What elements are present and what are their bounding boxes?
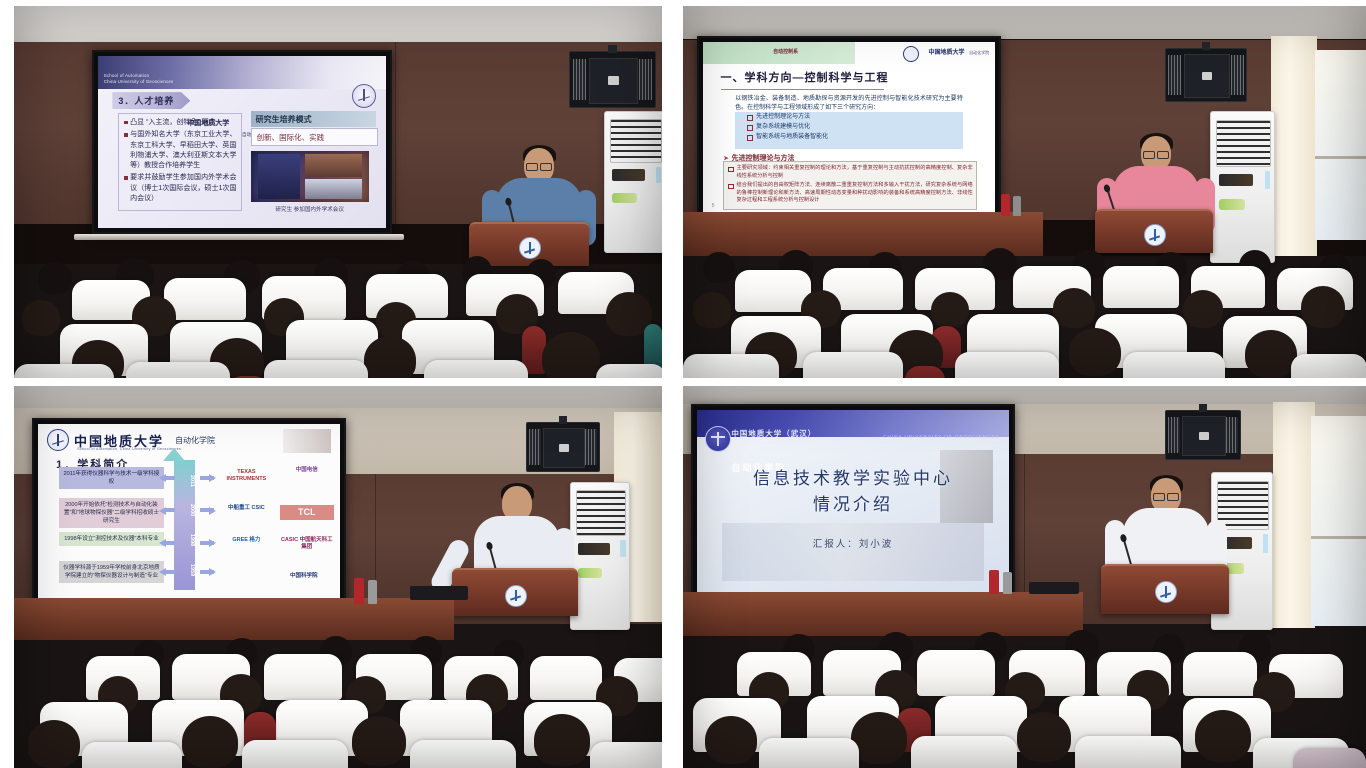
seat <box>759 738 859 768</box>
speaker-side-right <box>1231 55 1244 95</box>
slide-title-page: 中国地质大学（武汉） 自动化学院 CHINA UNIVERSITY OF GEO… <box>697 410 1009 592</box>
slide-page-number: 5 <box>712 203 715 209</box>
bottle <box>354 578 364 604</box>
list-item: 复杂系统建模与优化 <box>745 123 963 132</box>
ac-badge <box>656 167 661 184</box>
window-frame-bar <box>1315 156 1366 159</box>
slide-title: 3．人才培养 <box>112 92 190 109</box>
slide-title-line2: 情况介绍 <box>697 492 1009 518</box>
glasses-icon <box>1143 151 1169 158</box>
ac-display <box>578 543 610 555</box>
speaker-side-left <box>529 429 541 465</box>
partner-logo: TEXAS INSTRUMENTS <box>222 469 270 482</box>
speaker-bracket-icon <box>1202 42 1210 50</box>
ac-grill-icon <box>1216 120 1271 167</box>
podium-emblem-icon <box>1144 224 1166 246</box>
list-item: 智能系统与地质装备智能化 <box>745 133 963 142</box>
ac-decal-icon <box>612 193 637 203</box>
slide-banner-label: 自动控制系 <box>773 48 798 55</box>
audience-head <box>1069 328 1121 376</box>
list-item: 与国外知名大学（东京工业大学、东京工科大学、早稻田大学、英国利物浦大学、澳大利亚… <box>124 130 236 171</box>
thermos <box>1003 572 1012 594</box>
audience-row-2 <box>683 672 1366 720</box>
arrow-right-icon <box>200 507 217 513</box>
slide-photo-2 <box>305 154 362 178</box>
slide-header-university: 中国地质大学 自动化学院 <box>928 47 989 56</box>
partner-logo: 中国电信 <box>283 467 331 474</box>
ac-display <box>1219 174 1254 186</box>
slide-discipline-intro: 中国地质大学 自动化学院 School of Automation, China… <box>38 424 340 604</box>
ac-badge <box>620 540 625 558</box>
air-conditioner-tr <box>1210 111 1275 263</box>
slide-photo-collage <box>251 151 369 203</box>
screen-surface-bl: 中国地质大学 自动化学院 School of Automation, China… <box>38 424 340 604</box>
audience-head <box>1245 330 1297 378</box>
audience-row-3 <box>683 338 1366 378</box>
photo-top-right[interactable]: 自动控制系 中国地质大学 自动化学院 一、学科方向—控制科学与工程 以钢铁冶金、… <box>683 6 1366 378</box>
ac-badge <box>1265 171 1271 189</box>
audience-head <box>542 332 600 378</box>
slide-photo-1 <box>258 154 301 199</box>
milestone-box: 2011年获得仪器科学与技术一级学科授权 <box>59 467 164 489</box>
list-item: 凸显 “入主流，创特色” 理念 <box>124 118 236 128</box>
bottle <box>1001 194 1010 216</box>
list-item: 主要研究领域：约束相关重复控制的理论和方法，基于重复控制与主动抗扰控制的高精度控… <box>727 165 972 180</box>
projection-screen-tr[interactable]: 自动控制系 中国地质大学 自动化学院 一、学科方向—控制科学与工程 以钢铁冶金、… <box>697 36 1001 218</box>
seat <box>264 360 368 378</box>
audience-head <box>1053 288 1095 328</box>
audience-row-1 <box>14 634 662 676</box>
list-item: 先进控制理论与方法 <box>745 113 963 122</box>
ceiling-br <box>683 386 1366 405</box>
audience-row-3 <box>683 720 1366 768</box>
bottle <box>989 570 999 594</box>
wall-speaker-br <box>1165 410 1241 460</box>
audience-head <box>352 716 406 766</box>
audience-row-3 <box>14 346 662 378</box>
lecture-room-tr: 自动控制系 中国地质大学 自动化学院 一、学科方向—控制科学与工程 以钢铁冶金、… <box>683 6 1366 378</box>
milestone-box: 2000年开始依托“检测技术与自动化装置”和“地球物探仪器”二级学科招收硕士研究… <box>59 498 164 528</box>
speaker-cone-icon <box>543 428 585 468</box>
speaker-bracket-icon <box>559 416 566 424</box>
wall-speaker-tl <box>569 51 656 108</box>
slide-header-school-text: 自动化学院 <box>969 50 989 55</box>
seat <box>1123 352 1225 378</box>
seat <box>911 736 1017 768</box>
seat <box>410 740 516 768</box>
air-conditioner-tl <box>604 111 662 253</box>
arrow-left-icon <box>159 568 173 574</box>
slide-title: 一、学科方向—控制科学与工程 <box>721 69 889 85</box>
podium-emblem-icon <box>505 585 527 607</box>
lecture-room-tl: School of Automation China University of… <box>14 6 662 378</box>
audience-head <box>534 714 590 766</box>
seat <box>596 364 662 378</box>
milestone-box: 1998年设立“测控技术及仪器”本科专业 <box>59 532 164 546</box>
audience-head <box>182 716 238 768</box>
audience-head <box>1195 710 1251 762</box>
curtain-tr <box>1271 36 1317 256</box>
screen-roller-bar <box>74 234 404 240</box>
seat <box>14 364 114 378</box>
audience-row-1 <box>683 630 1366 672</box>
timeline-year: 1959 <box>174 557 195 583</box>
speaker-side-left <box>1168 417 1180 453</box>
audience-head <box>703 252 735 283</box>
screen-surface-tr: 自动控制系 中国地质大学 自动化学院 一、学科方向—控制科学与工程 以钢铁冶金、… <box>703 42 995 212</box>
university-emblem-icon <box>705 426 731 452</box>
audience-head <box>364 336 416 378</box>
slide-header-en-line2: China University of Geosciences <box>104 79 174 85</box>
slide-photo-caption: 研究生 参加国内外学术会议 <box>251 205 369 213</box>
seat <box>424 360 528 378</box>
air-conditioner-bl <box>570 482 630 630</box>
seat <box>683 354 779 378</box>
slide-talent-cultivation: School of Automation China University of… <box>98 56 386 228</box>
timeline-year: 2000 <box>174 498 195 524</box>
timeline-arrow-icon: 2011 2000 1998 1959 <box>174 460 195 590</box>
podium-bl <box>452 568 578 616</box>
ac-decal-icon <box>1219 199 1245 210</box>
photo-bottom-right[interactable]: 中国地质大学（武汉） 自动化学院 CHINA UNIVERSITY OF GEO… <box>683 386 1366 768</box>
slide-photo-3 <box>305 179 362 199</box>
seat <box>803 352 903 378</box>
slide-background-photo <box>722 523 984 581</box>
seat <box>242 740 348 768</box>
lecture-room-bl: 中国地质大学 自动化学院 School of Automation, China… <box>14 386 662 768</box>
slide-presenter-label: 汇报人：刘小波 <box>697 536 1009 550</box>
ceiling-tr <box>683 6 1366 39</box>
slide-header-university-text: 中国地质大学 <box>928 50 964 56</box>
ac-grill-icon <box>610 119 662 163</box>
ceiling-bl <box>14 386 662 409</box>
podium-tr <box>1095 209 1213 253</box>
audience-head <box>693 292 731 328</box>
photo-bottom-left[interactable]: 中国地质大学 自动化学院 School of Automation, China… <box>14 386 662 768</box>
university-emblem-icon <box>352 84 376 108</box>
speaker-side-left <box>573 59 587 101</box>
window-frame-bar <box>1311 536 1366 539</box>
projection-screen-bl[interactable]: 中国地质大学 自动化学院 School of Automation, China… <box>32 418 346 610</box>
slide-header-en: School of Automation China University of… <box>104 73 174 84</box>
audience-row-1 <box>683 250 1366 290</box>
calligraphy-decoration <box>283 429 331 452</box>
audience-head <box>705 716 757 764</box>
slide-header-school: 自动化学院 <box>175 435 215 446</box>
milestone-box: 仪器学科源于1959年学校前身北京地质学院建立的“物探仪器设计与制造”专业 <box>59 561 164 583</box>
ac-grill-icon <box>1217 481 1269 530</box>
speaker-side-right <box>585 429 597 465</box>
photo-top-left[interactable]: School of Automation China University of… <box>14 6 662 378</box>
audience-head <box>1183 290 1223 328</box>
seat <box>1291 354 1366 378</box>
speaker-cone-icon <box>1184 54 1231 98</box>
podium-br <box>1101 564 1229 614</box>
slide-sidebox-body: 创新、国际化、实践 <box>251 128 378 146</box>
audience-head <box>931 292 969 328</box>
audience-head <box>1017 712 1071 762</box>
arrow-left-icon <box>159 474 173 480</box>
speaker-bracket-icon <box>608 45 617 53</box>
arrow-left-icon <box>159 539 173 545</box>
slide-directions-box: 先进控制理论与方法 复杂系统建模与优化 智能系统与地质装备智能化 <box>735 112 963 149</box>
wall-speaker-tr <box>1165 48 1247 102</box>
slide-discipline-direction: 自动控制系 中国地质大学 自动化学院 一、学科方向—控制科学与工程 以钢铁冶金、… <box>703 42 995 212</box>
curtain-br <box>1273 402 1315 628</box>
audience-row-3 <box>14 724 662 768</box>
slide-title-underline <box>721 89 885 91</box>
bottle <box>1013 196 1021 216</box>
podium-emblem-icon <box>519 237 541 259</box>
partner-logo: 中国科学院 <box>274 573 334 580</box>
slide-bullet-list: 凸显 “入主流，创特色” 理念 与国外知名大学（东京工业大学、东京工科大学、早稻… <box>118 113 242 212</box>
photo-collage: School of Automation China University of… <box>0 0 1366 768</box>
timeline-year: 2011 <box>174 468 195 494</box>
university-emblem-icon <box>47 429 69 451</box>
arrow-right-icon <box>200 474 217 480</box>
slide-header-en: CHINA UNIVERSITY OF GEOSCIENCES <box>883 434 999 439</box>
audience-head <box>38 262 72 294</box>
speaker-side-right <box>1226 417 1238 453</box>
audience-row-1 <box>14 258 662 298</box>
wall-speaker-bl <box>526 422 600 472</box>
slide-sidebox-title: 研究生培养模式 <box>251 111 376 127</box>
arrow-left-icon <box>159 507 173 513</box>
audience-head <box>28 720 80 768</box>
window-tr <box>1315 50 1366 240</box>
slide-subsection-box: 主要研究领域：约束相关重复控制的理论和方法，基于重复控制与主动抗扰控制的高精度控… <box>723 161 976 210</box>
speaker-side-left <box>1168 55 1181 95</box>
seat <box>1075 736 1181 768</box>
projection-screen-tl[interactable]: School of Automation China University of… <box>92 50 392 234</box>
list-item: 结合我们提出的自由权矩阵方法、连续离散二重重复控制方法和多输入干扰方法，研究复杂… <box>727 182 972 205</box>
arrow-right-icon <box>200 539 217 545</box>
ac-display <box>612 169 645 180</box>
projection-screen-br[interactable]: 中国地质大学（武汉） 自动化学院 CHINA UNIVERSITY OF GEO… <box>691 404 1015 598</box>
seat <box>126 362 230 378</box>
partner-logo: TCL <box>280 505 334 520</box>
ac-grill-icon <box>576 490 627 536</box>
seat <box>590 742 662 768</box>
seat <box>955 352 1059 378</box>
slide-paragraph: 以钢铁冶金、装备制造、地质勘探与资源开发的先进控制与智能化技术研究为主要特色。在… <box>735 95 963 113</box>
list-item: 要求并鼓励学生参加国内外学术会议（博士1次国际会议，硕士1次国内会议） <box>124 173 236 203</box>
window-br <box>1311 416 1366 626</box>
ac-badge <box>1263 534 1268 553</box>
audience-head <box>1301 286 1345 328</box>
lecture-room-br: 中国地质大学（武汉） 自动化学院 CHINA UNIVERSITY OF GEO… <box>683 386 1366 768</box>
thermos <box>368 580 377 604</box>
speaker-side-right <box>639 59 653 101</box>
speaker-cone-icon <box>1182 416 1225 456</box>
speaker-cone-icon <box>589 58 639 104</box>
glasses-icon <box>526 163 552 170</box>
slide-title: 信息技术教学实验中心 情况介绍 <box>697 466 1009 517</box>
seat <box>905 366 945 378</box>
timeline-year: 1998 <box>174 527 195 553</box>
glasses-icon <box>1153 493 1179 500</box>
podium-emblem-icon <box>1155 581 1177 603</box>
laptop <box>1029 582 1079 594</box>
university-emblem-icon <box>903 46 919 62</box>
slide-title-line1: 信息技术教学实验中心 <box>697 466 1009 492</box>
screen-surface-br: 中国地质大学（武汉） 自动化学院 CHINA UNIVERSITY OF GEO… <box>697 410 1009 592</box>
seat <box>82 742 182 768</box>
audience-head <box>851 712 907 764</box>
partner-logo: 中船重工 CSIC <box>222 505 270 512</box>
partner-logo: CASIC 中国航天科工集团 <box>280 537 334 550</box>
speaker-bracket-icon <box>1199 404 1206 412</box>
laptop <box>410 586 468 600</box>
partner-logo: GREE 格力 <box>222 537 270 544</box>
seat <box>1293 748 1366 768</box>
arrow-right-icon <box>200 568 217 574</box>
screen-surface-tl: School of Automation China University of… <box>98 56 386 228</box>
audience-head <box>22 300 60 336</box>
ac-decal-icon <box>578 568 602 578</box>
slide-header-university: 中国地质大学（武汉） <box>731 428 816 439</box>
